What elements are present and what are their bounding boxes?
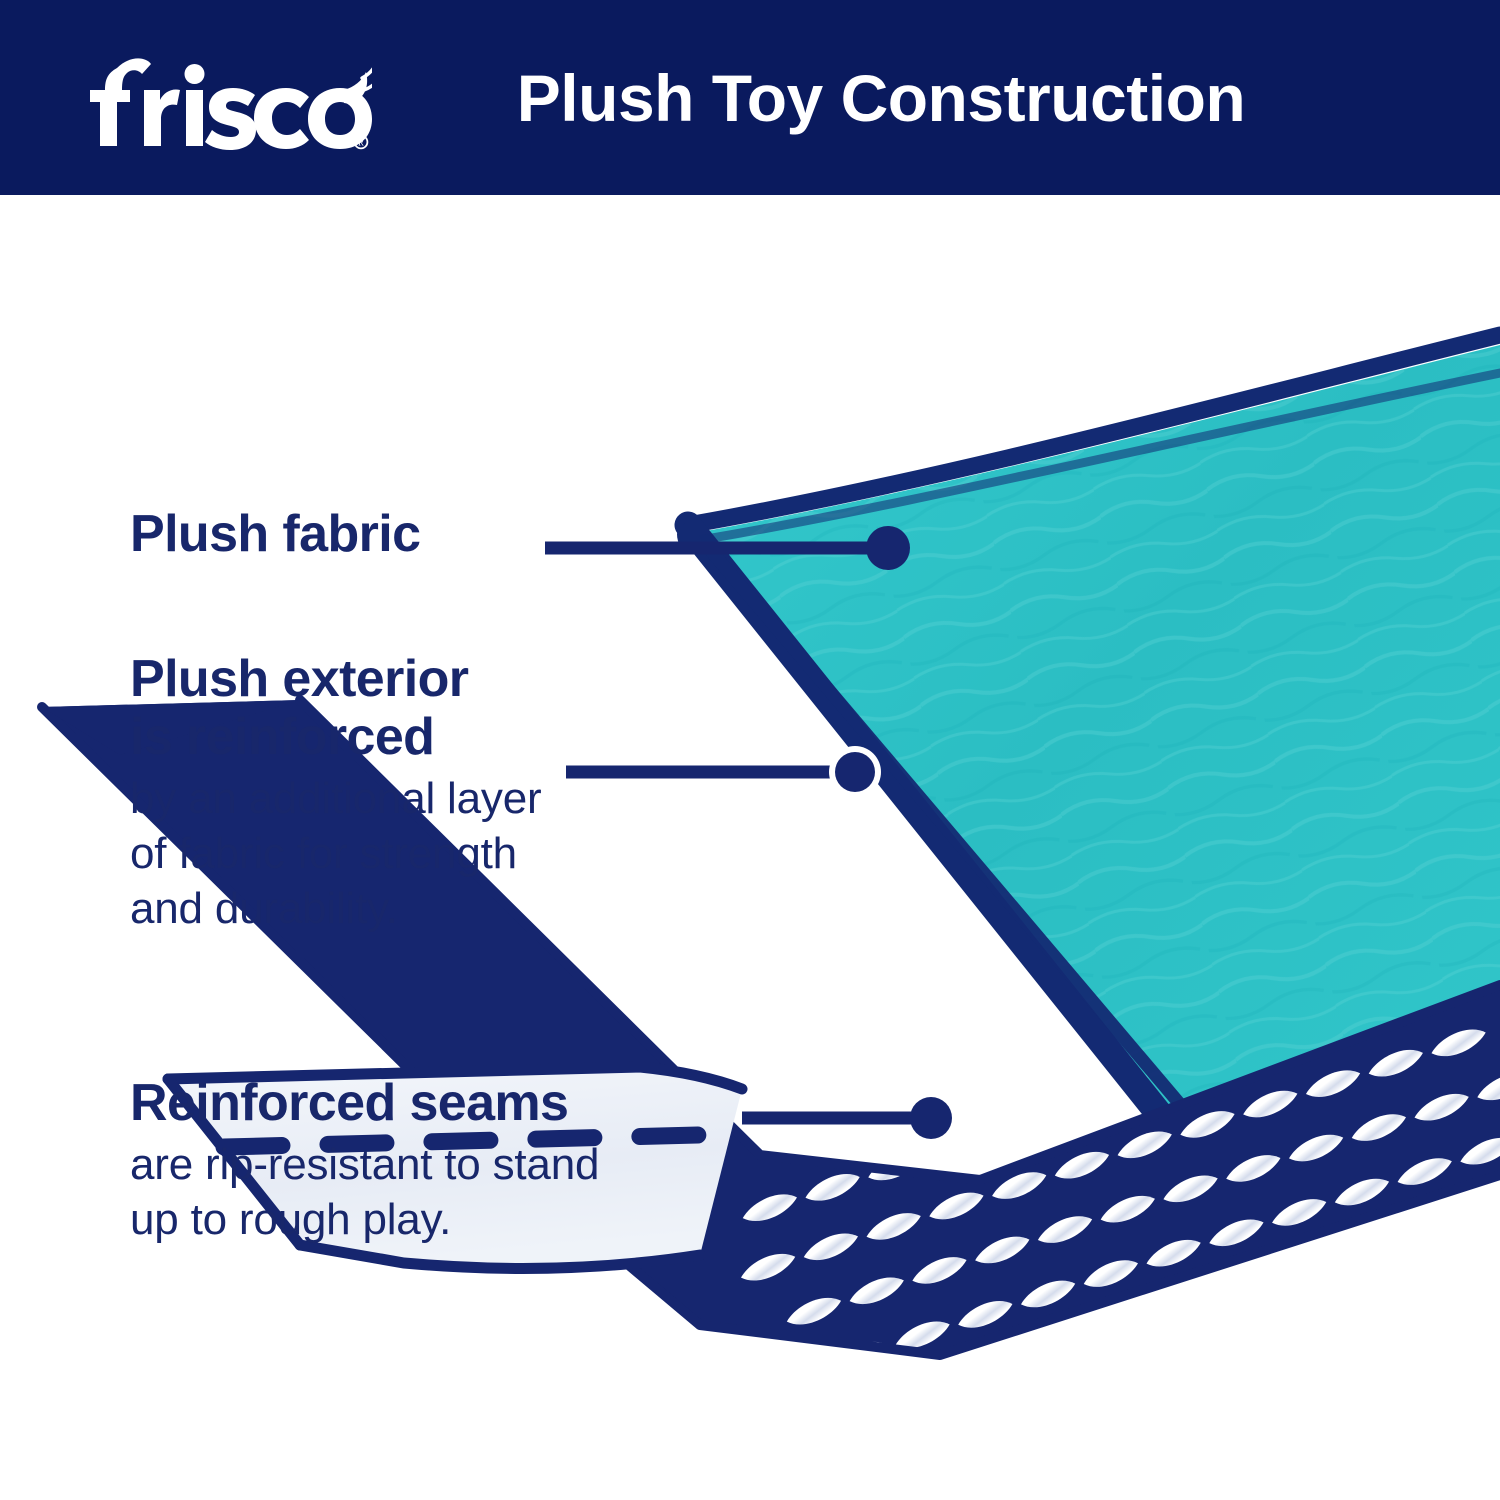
callout-reinforced-seams-headline: Reinforced seams [130,1074,599,1132]
callout-plush-fabric-headline: Plush fabric [130,505,420,563]
frisco-logo: R [72,38,372,158]
page-title: Plush Toy Construction [372,65,1500,131]
infographic-page: R Plush Toy Construction [0,0,1500,1500]
header-bar: R Plush Toy Construction [0,0,1500,195]
callout-plush-fabric: Plush fabric [130,505,420,563]
callout-reinforced-seams-body: are rip-resistant to stand up to rough p… [130,1138,599,1247]
callout-plush-exterior-body: by an additional layer of fabric for str… [130,772,541,936]
leader-line-plush-exterior [566,746,881,798]
callout-plush-exterior: Plush exterior is reinforced by an addit… [130,650,541,936]
callout-reinforced-seams: Reinforced seams are rip-resistant to st… [130,1074,599,1247]
leader-line-reinforced-seams [742,1097,952,1139]
callout-plush-exterior-headline: Plush exterior is reinforced [130,650,541,766]
svg-text:R: R [358,137,364,147]
